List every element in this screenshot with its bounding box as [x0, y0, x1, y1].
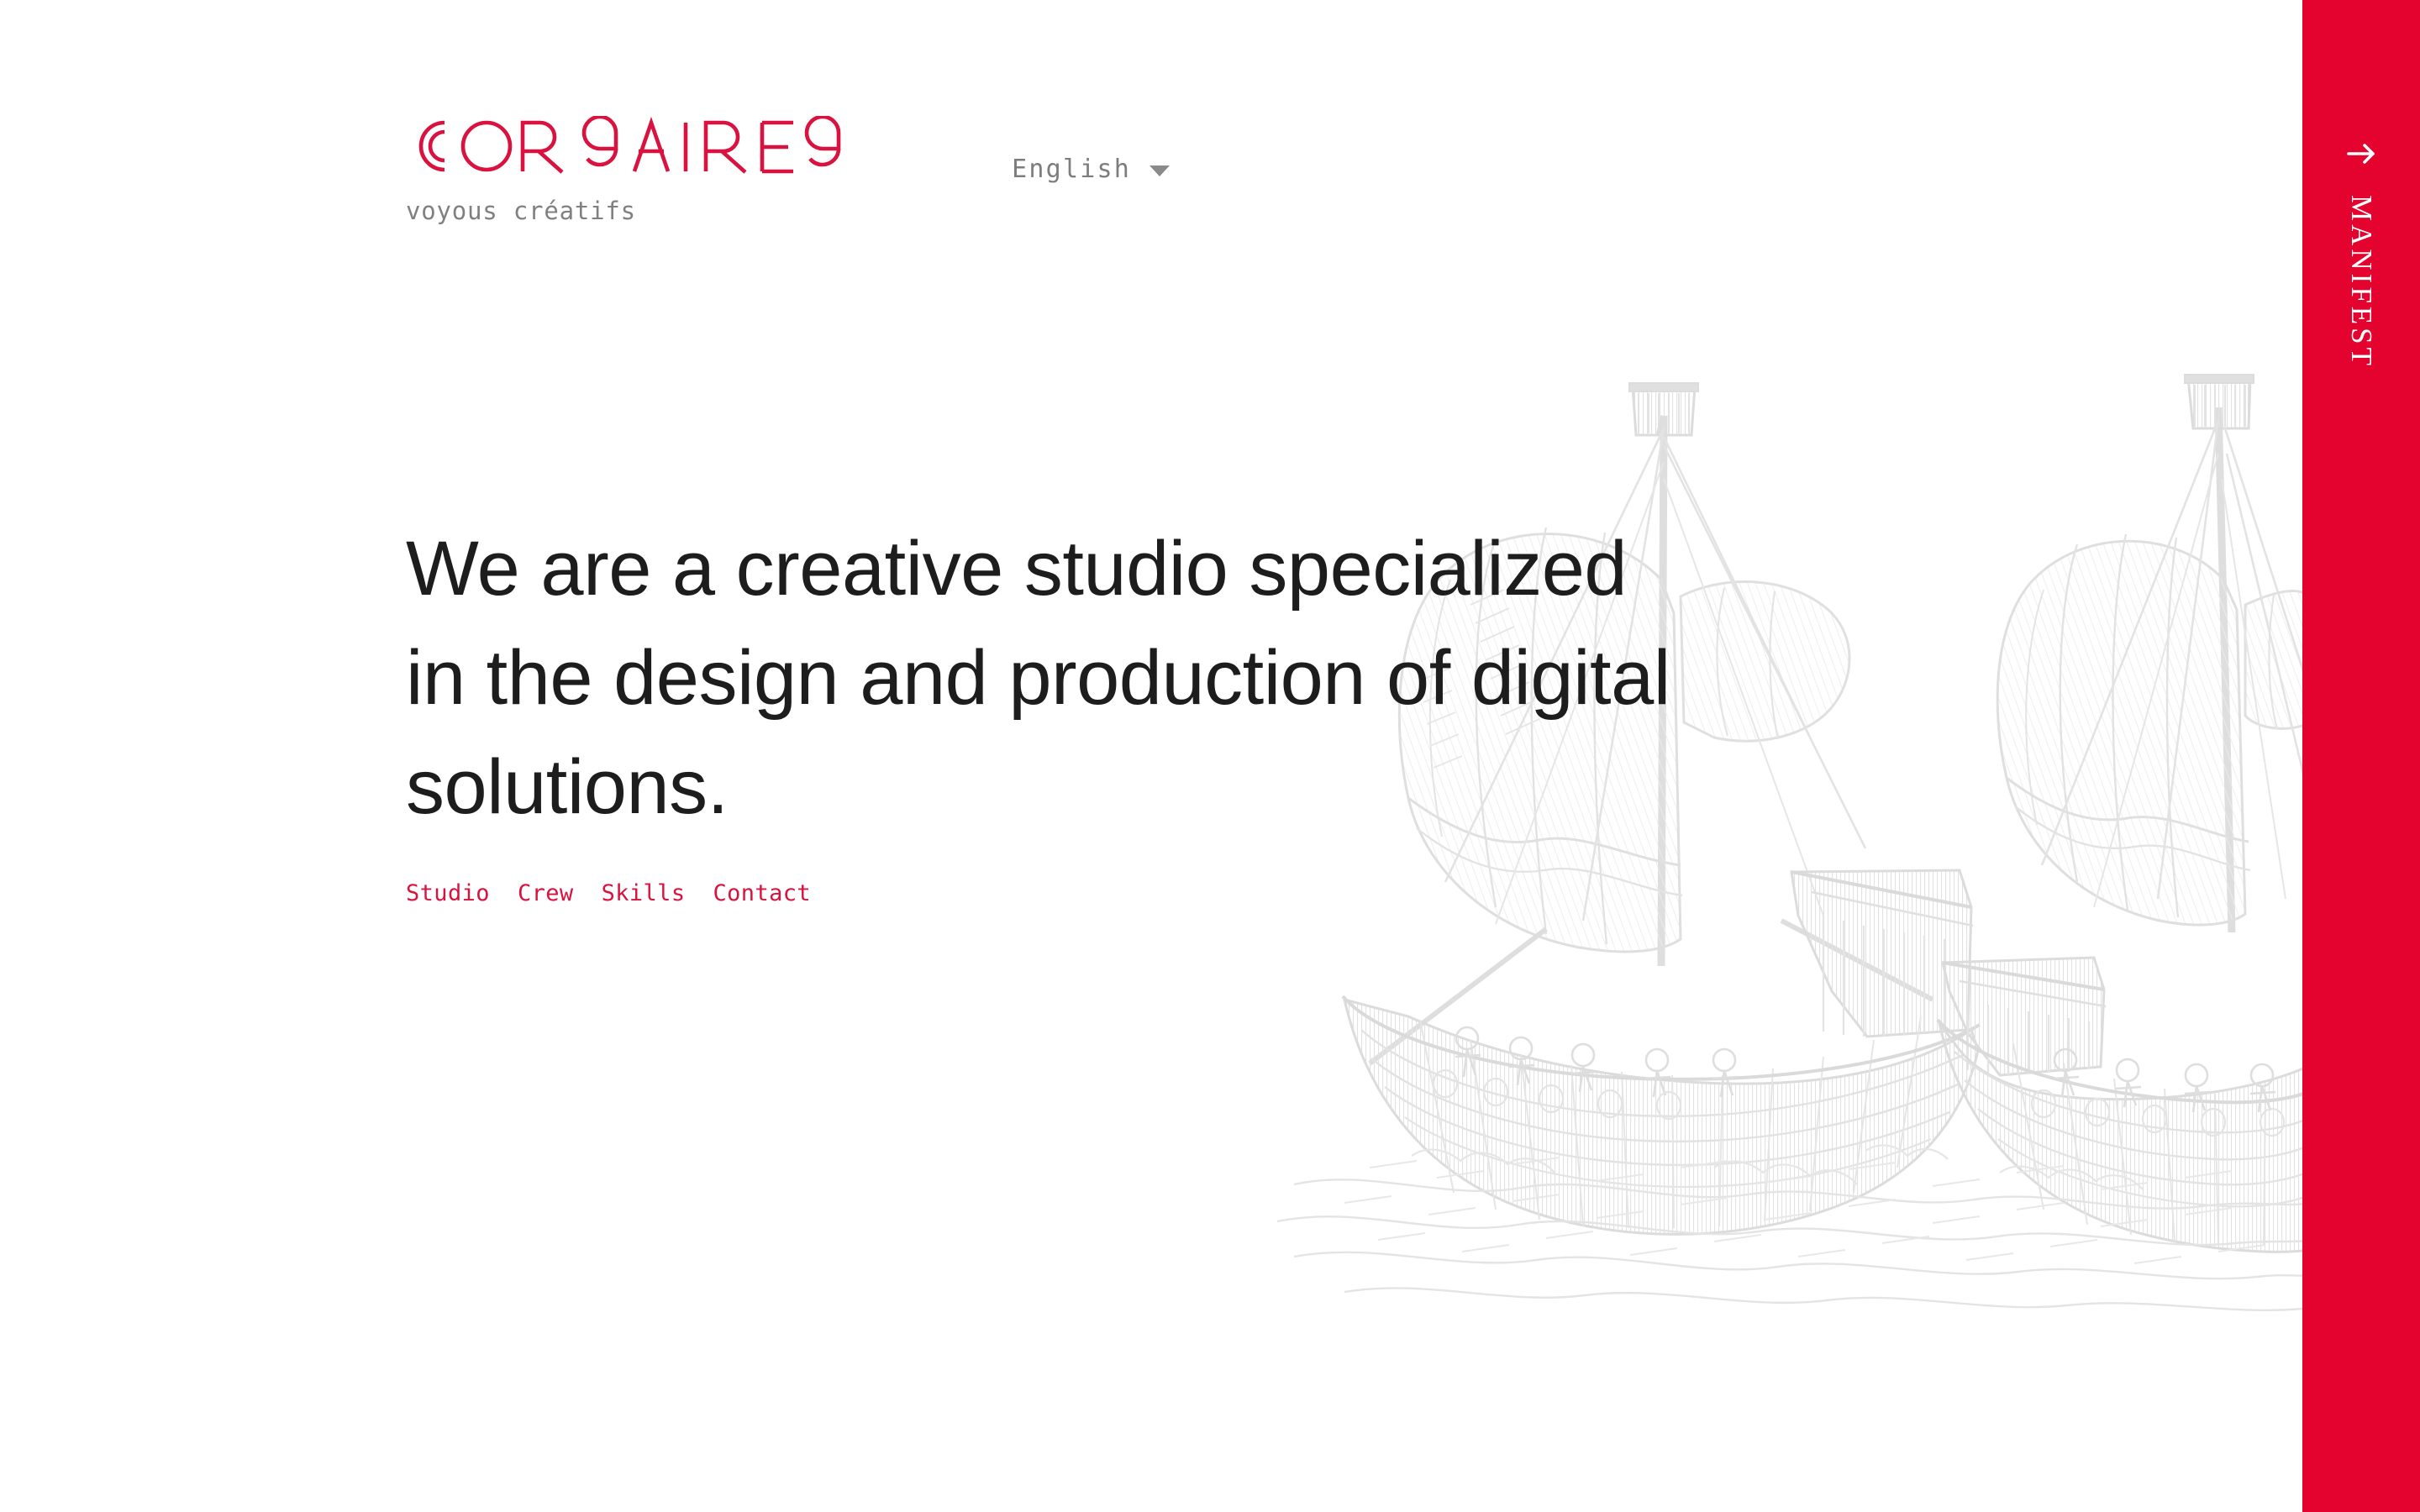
- site-header: voyous créatifs English: [0, 0, 2302, 277]
- nav-link-crew[interactable]: Crew: [518, 880, 574, 906]
- brand-tagline: voyous créatifs: [406, 197, 847, 225]
- manifest-rail[interactable]: MANIFEST: [2302, 0, 2420, 1512]
- language-selector[interactable]: English: [1012, 155, 1170, 184]
- nav-link-skills[interactable]: Skills: [602, 880, 686, 906]
- manifest-label-box[interactable]: MANIFEST: [2302, 195, 2420, 369]
- page-root: voyous créatifs English We are a creativ…: [0, 0, 2420, 1512]
- corsaires-logo[interactable]: [406, 116, 847, 176]
- hero-section: We are a creative studio specialized in …: [406, 514, 1885, 906]
- hero-nav: Studio Crew Skills Contact: [406, 880, 1885, 906]
- chevron-down-icon: [1149, 165, 1170, 176]
- manifest-label[interactable]: MANIFEST: [2344, 195, 2378, 369]
- arrow-right-icon[interactable]: [2342, 134, 2381, 173]
- nav-link-studio[interactable]: Studio: [406, 880, 490, 906]
- brand-block[interactable]: voyous créatifs: [406, 116, 847, 225]
- language-selector-label: English: [1012, 155, 1131, 184]
- page-title: We are a creative studio specialized in …: [406, 514, 1885, 842]
- nav-link-contact[interactable]: Contact: [713, 880, 812, 906]
